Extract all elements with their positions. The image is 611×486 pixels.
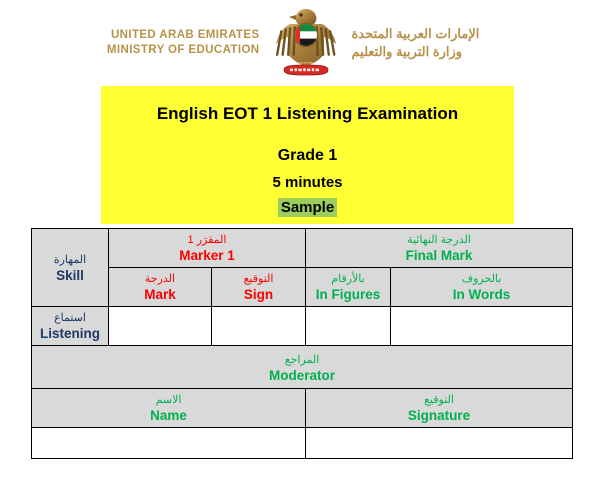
header-cell-in-words: بالحروف In Words: [391, 268, 573, 307]
input-cell-sign[interactable]: [212, 307, 306, 346]
moderator-title-arabic: المراجع: [34, 352, 570, 368]
input-cell-in-words[interactable]: [391, 307, 573, 346]
moderator-header-cell: المراجع Moderator: [32, 346, 573, 389]
header-mark-english: Mark: [111, 287, 209, 302]
header-marker-english: Marker 1: [111, 248, 303, 263]
moderator-header-signature: التوقيع Signature: [306, 389, 573, 428]
header-sign-english: Sign: [214, 287, 303, 302]
grade-label: Grade 1: [101, 146, 514, 166]
header-sign-arabic: التوقيع: [214, 272, 303, 287]
header-marker-arabic: المقرَر 1: [111, 233, 303, 248]
input-cell-in-figures[interactable]: [306, 307, 391, 346]
sample-label-wrap: Sample: [101, 198, 514, 218]
moderator-title-english: Moderator: [34, 368, 570, 384]
table-header-row-2: الدرجة Mark التوقيع Sign بالأرقام In Fig…: [32, 268, 573, 307]
header-cell-in-figures: بالأرقام In Figures: [306, 268, 391, 307]
header-cell-final-mark: الدرجة النهائية Final Mark: [306, 229, 573, 268]
duration-label: 5 minutes: [101, 173, 514, 192]
letterhead-arabic-line1: الإمارات العربية المتحدة: [352, 25, 527, 43]
moderator-signature-arabic: التوقيع: [308, 393, 570, 408]
uae-falcon-emblem-icon: [266, 4, 346, 82]
moderator-signature-english: Signature: [308, 408, 570, 423]
input-cell-mark[interactable]: [109, 307, 212, 346]
header-cell-skill: المهارة Skill: [32, 229, 109, 307]
header-in-words-english: In Words: [393, 287, 570, 302]
header-cell-mark: الدرجة Mark: [109, 268, 212, 307]
page-title: English EOT 1 Listening Examination: [101, 103, 514, 124]
moderator-header-name: الاسم Name: [32, 389, 306, 428]
letterhead: UNITED ARAB EMIRATES MINISTRY OF EDUCATI…: [0, 0, 611, 86]
sample-badge: Sample: [278, 198, 337, 217]
header-skill-english: Skill: [34, 268, 106, 283]
letterhead-english-line2: MINISTRY OF EDUCATION: [85, 43, 260, 58]
header-cell-marker: المقرَر 1 Marker 1: [109, 229, 306, 268]
moderator-name-arabic: الاسم: [34, 393, 303, 408]
cell-skill-listening: استماع Listening: [32, 307, 109, 346]
table-header-row-1: المهارة Skill المقرَر 1 Marker 1 الدرجة …: [32, 229, 573, 268]
header-final-mark-arabic: الدرجة النهائية: [308, 233, 570, 248]
grade-table: المهارة Skill المقرَر 1 Marker 1 الدرجة …: [31, 228, 573, 459]
header-final-mark-english: Final Mark: [308, 248, 570, 263]
header-cell-sign: التوقيع Sign: [212, 268, 306, 307]
header-mark-arabic: الدرجة: [111, 272, 209, 287]
exam-title-box: English EOT 1 Listening Examination Grad…: [101, 86, 514, 224]
header-skill-arabic: المهارة: [34, 253, 106, 268]
header-in-figures-arabic: بالأرقام: [308, 272, 388, 287]
header-in-figures-english: In Figures: [308, 287, 388, 302]
skill-listening-arabic: استماع: [34, 311, 106, 326]
moderator-name-english: Name: [34, 408, 303, 423]
letterhead-arabic: الإمارات العربية المتحدة وزارة التربية و…: [352, 25, 527, 61]
moderator-title-row: المراجع Moderator: [32, 346, 573, 389]
header-in-words-arabic: بالحروف: [393, 272, 570, 287]
letterhead-english: UNITED ARAB EMIRATES MINISTRY OF EDUCATI…: [85, 28, 260, 58]
input-cell-moderator-signature[interactable]: [306, 428, 573, 459]
input-cell-moderator-name[interactable]: [32, 428, 306, 459]
letterhead-arabic-line2: وزارة التربية والتعليم: [352, 43, 527, 61]
moderator-input-row: [32, 428, 573, 459]
skill-listening-english: Listening: [34, 326, 106, 341]
table-row-listening: استماع Listening: [32, 307, 573, 346]
moderator-subheader-row: الاسم Name التوقيع Signature: [32, 389, 573, 428]
letterhead-english-line1: UNITED ARAB EMIRATES: [85, 28, 260, 43]
